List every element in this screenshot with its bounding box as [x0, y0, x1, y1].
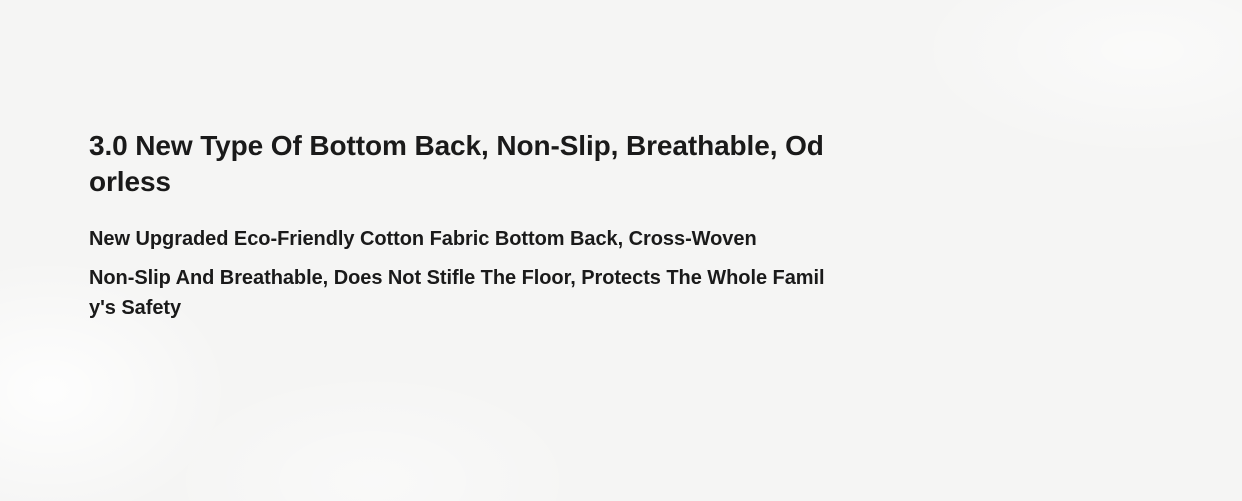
- product-feature-item: Non-Slip And Breathable, Does Not Stifle…: [89, 263, 831, 323]
- product-description-page: 3.0 New Type Of Bottom Back, Non-Slip, B…: [0, 0, 1242, 501]
- product-title: 3.0 New Type Of Bottom Back, Non-Slip, B…: [89, 128, 831, 200]
- product-feature-list: New Upgraded Eco-Friendly Cotton Fabric …: [89, 224, 831, 323]
- product-description-block: 3.0 New Type Of Bottom Back, Non-Slip, B…: [89, 128, 831, 323]
- product-feature-item: New Upgraded Eco-Friendly Cotton Fabric …: [89, 224, 831, 254]
